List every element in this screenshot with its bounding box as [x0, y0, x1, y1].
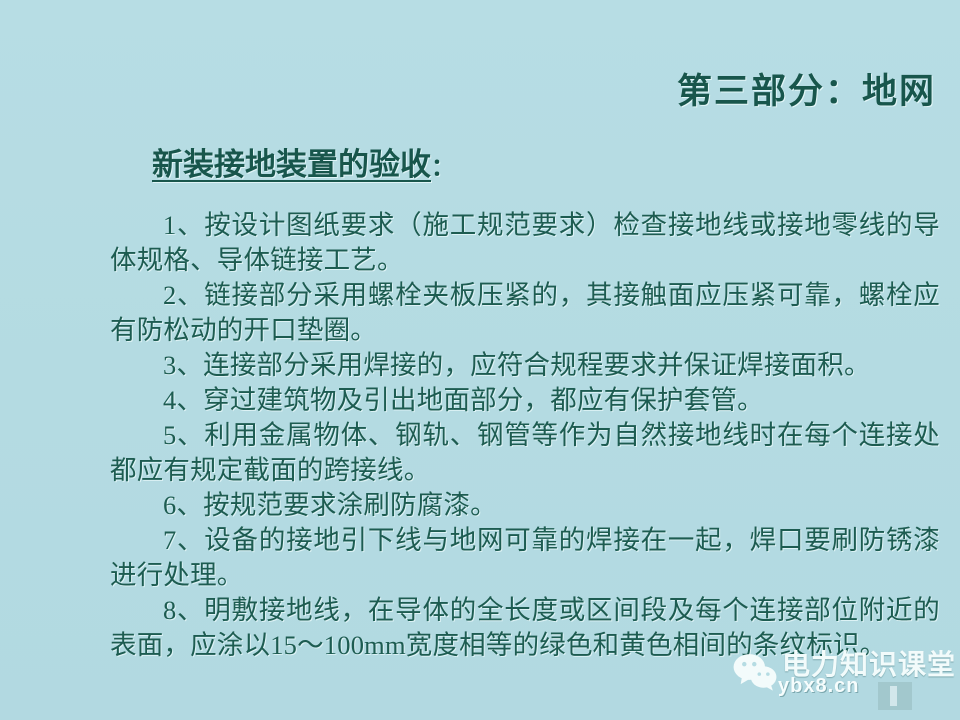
- wechat-icon: [732, 652, 778, 692]
- list-item: 1、按设计图纸要求（施工规范要求）检查接地线或接地零线的导体规格、导体链接工艺。: [110, 208, 940, 278]
- list-item: 7、设备的接地引下线与地网可靠的焊接在一起，焊口要刷防锈漆进行处理。: [110, 523, 940, 593]
- list-item: 3、连接部分采用焊接的，应符合规程要求并保证焊接面积。: [110, 348, 940, 383]
- list-item: 5、利用金属物体、钢轨、钢管等作为自然接地线时在每个连接处都应有规定截面的跨接线…: [110, 418, 940, 488]
- page-title: 第三部分：地网: [677, 70, 936, 114]
- watermark-badge: [878, 682, 912, 710]
- list-item: 4、穿过建筑物及引出地面部分，都应有保护套管。: [110, 383, 940, 418]
- slide-canvas: 第三部分：地网 新装接地装置的验收： 1、按设计图纸要求（施工规范要求）检查接地…: [0, 0, 960, 720]
- section-subtitle: 新装接地装置的验收：: [152, 144, 455, 189]
- watermark-domain: ybx8.cn: [778, 674, 859, 698]
- watermark: 电力知识课堂 ybx8.cn: [730, 644, 950, 712]
- section-subtitle-colon: ：: [431, 155, 455, 181]
- list-item: 6、按规范要求涂刷防腐漆。: [110, 488, 940, 523]
- requirements-list: 1、按设计图纸要求（施工规范要求）检查接地线或接地零线的导体规格、导体链接工艺。…: [110, 208, 940, 663]
- section-subtitle-text: 新装接地装置的验收: [152, 147, 431, 182]
- list-item: 2、链接部分采用螺栓夹板压紧的，其接触面应压紧可靠，螺栓应有防松动的开口垫圈。: [110, 278, 940, 348]
